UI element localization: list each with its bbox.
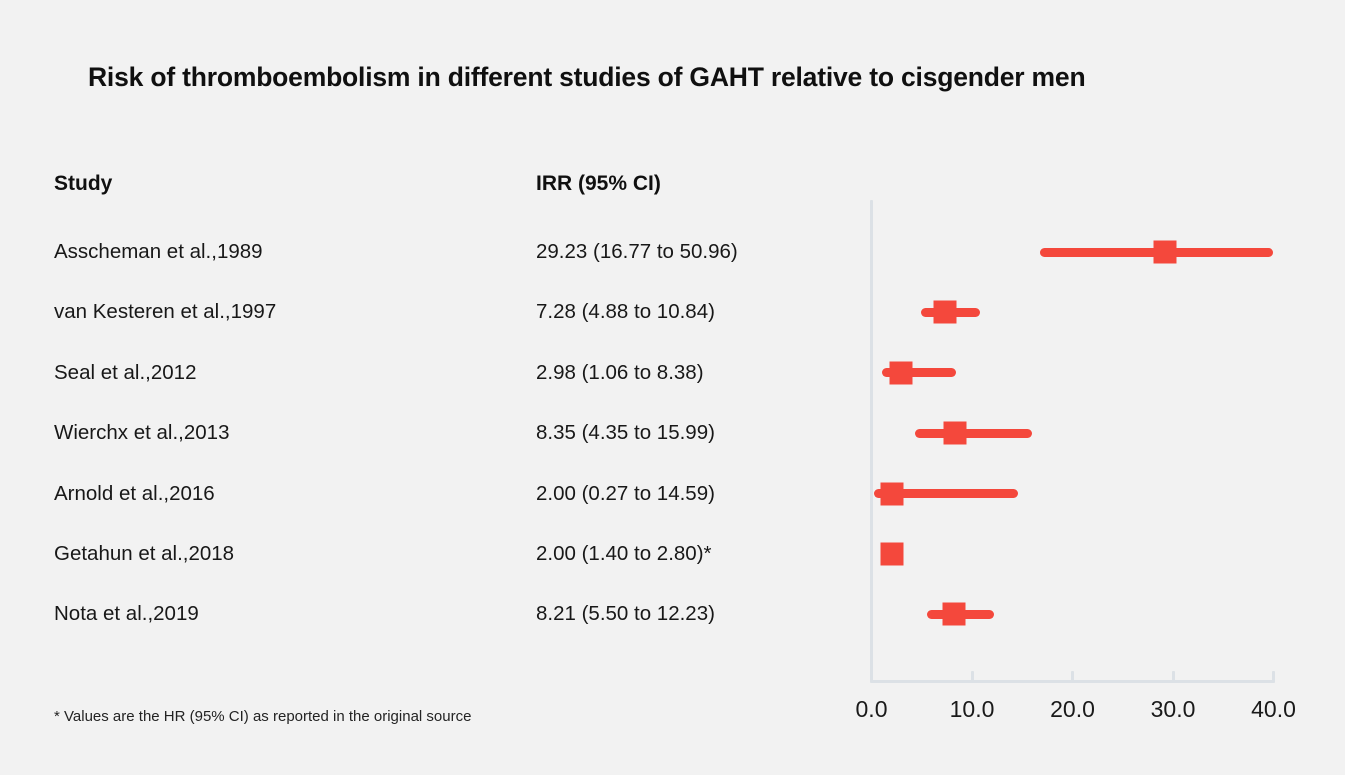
x-axis-tick-label: 30.0 [1151, 696, 1196, 723]
point-estimate-marker [1154, 241, 1177, 264]
point-estimate-marker [880, 482, 903, 505]
x-axis-tick [1172, 671, 1175, 682]
row-estimate-value: 2.00 (0.27 to 14.59) [536, 484, 715, 505]
x-axis-tick-label: 20.0 [1050, 696, 1095, 723]
confidence-interval-line [874, 489, 1018, 498]
row-study-label: Nota et al.,2019 [54, 604, 199, 625]
row-study-label: Seal et al.,2012 [54, 363, 196, 384]
row-estimate-value: 2.00 (1.40 to 2.80)* [536, 544, 712, 565]
row-study-label: Wierchx et al.,2013 [54, 423, 229, 444]
x-axis-tick-label: 10.0 [950, 696, 995, 723]
point-estimate-marker [890, 361, 913, 384]
row-study-label: Asscheman et al.,1989 [54, 242, 263, 263]
confidence-interval-line [886, 550, 900, 559]
confidence-interval-line [927, 610, 995, 619]
x-axis-tick [870, 671, 873, 682]
row-estimate-value: 8.21 (5.50 to 12.23) [536, 604, 715, 625]
confidence-interval-line [921, 308, 981, 317]
column-header-estimate: IRR (95% CI) [536, 172, 661, 196]
plot-area: 0.010.020.030.040.0 [0, 0, 1345, 775]
row-estimate-value: 8.35 (4.35 to 15.99) [536, 423, 715, 444]
confidence-interval-line [915, 429, 1032, 438]
row-estimate-value: 7.28 (4.88 to 10.84) [536, 302, 715, 323]
x-axis-tick-label: 40.0 [1251, 696, 1296, 723]
x-axis-tick [1071, 671, 1074, 682]
x-axis-tick [971, 671, 974, 682]
point-estimate-marker [944, 422, 967, 445]
point-estimate-marker [880, 543, 903, 566]
point-estimate-marker [933, 301, 956, 324]
page-title: Risk of thromboembolism in different stu… [88, 62, 1268, 93]
footnote: * Values are the HR (95% CI) as reported… [54, 708, 471, 725]
point-estimate-marker [943, 603, 966, 626]
confidence-interval-line [1040, 248, 1273, 257]
row-estimate-value: 29.23 (16.77 to 50.96) [536, 242, 738, 263]
confidence-interval-line [882, 368, 956, 377]
x-axis-tick-label: 0.0 [856, 696, 888, 723]
row-study-label: van Kesteren et al.,1997 [54, 302, 276, 323]
row-estimate-value: 2.98 (1.06 to 8.38) [536, 363, 704, 384]
x-axis-line [870, 680, 1275, 683]
reference-line [870, 200, 873, 680]
x-axis-tick [1272, 671, 1275, 682]
row-study-label: Arnold et al.,2016 [54, 484, 215, 505]
forest-plot-figure: Risk of thromboembolism in different stu… [0, 0, 1345, 775]
row-study-label: Getahun et al.,2018 [54, 544, 234, 565]
column-header-study: Study [54, 172, 112, 196]
